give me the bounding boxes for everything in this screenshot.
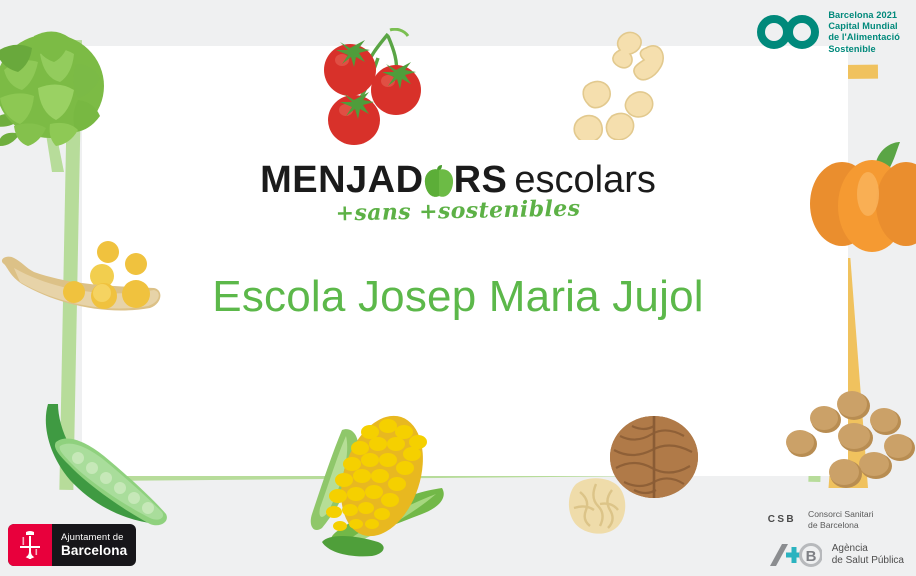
apple-icon [424, 165, 454, 199]
csb-logo: CSB Consorci Sanitari de Barcelona [768, 509, 874, 530]
cashew-nuts-illustration [568, 22, 678, 140]
csb-text-block: Consorci Sanitari de Barcelona [808, 509, 873, 530]
logo-word-rs: RS [454, 159, 508, 201]
bcn-line-3: de l'Alimentació [828, 32, 900, 43]
menjadors-escolars-logo: MENJAD RSescolars +sans +sostenibles [0, 160, 916, 224]
ajuntament-barcelona-logo: Ajuntament de Barcelona [8, 524, 136, 566]
asp-line-2: de Salut Pública [832, 555, 904, 567]
barcelona-crest-icon [8, 524, 52, 566]
bcn-line-4: Sostenible [828, 44, 900, 55]
corn-cob-illustration [292, 396, 452, 576]
barcelona-2021-logo: Barcelona 2021 Capital Mundial de l'Alim… [757, 10, 900, 55]
bcn-line-2: Capital Mundial [828, 21, 900, 32]
page-title: Escola Josep Maria Jujol [0, 272, 916, 322]
walnut-kernel-illustration [562, 470, 632, 540]
csb-line-1: Consorci Sanitari [808, 509, 873, 519]
logo-word-menjad: MENJAD [260, 159, 423, 201]
asp-text-block: Agència de Salut Pública [832, 543, 904, 568]
csb-mark: CSB [768, 514, 796, 525]
presentation-slide: Barcelona 2021 Capital Mundial de l'Alim… [0, 0, 916, 576]
artichoke-illustration [0, 14, 114, 174]
cherry-tomatoes-illustration [318, 28, 428, 148]
footer-right-logos: CSB Consorci Sanitari de Barcelona B Agè… [768, 509, 904, 568]
infinity-icon [757, 15, 819, 49]
csb-line-2: de Barcelona [808, 520, 873, 530]
ajuntament-line-2: Barcelona [61, 543, 136, 558]
barcelona-2021-text-block: Barcelona 2021 Capital Mundial de l'Alim… [828, 10, 900, 55]
a-plus-b-icon: B [768, 542, 822, 568]
asp-line-1: Agència [832, 543, 904, 555]
agencia-salut-publica-logo: B Agència de Salut Pública [768, 542, 904, 568]
pea-pods-illustration [40, 398, 220, 528]
lentils-illustration [772, 390, 916, 506]
bcn-line-1: Barcelona 2021 [828, 10, 900, 21]
ajuntament-labels: Ajuntament de Barcelona [52, 524, 136, 566]
svg-text:B: B [805, 548, 816, 565]
ajuntament-line-1: Ajuntament de [61, 532, 136, 543]
